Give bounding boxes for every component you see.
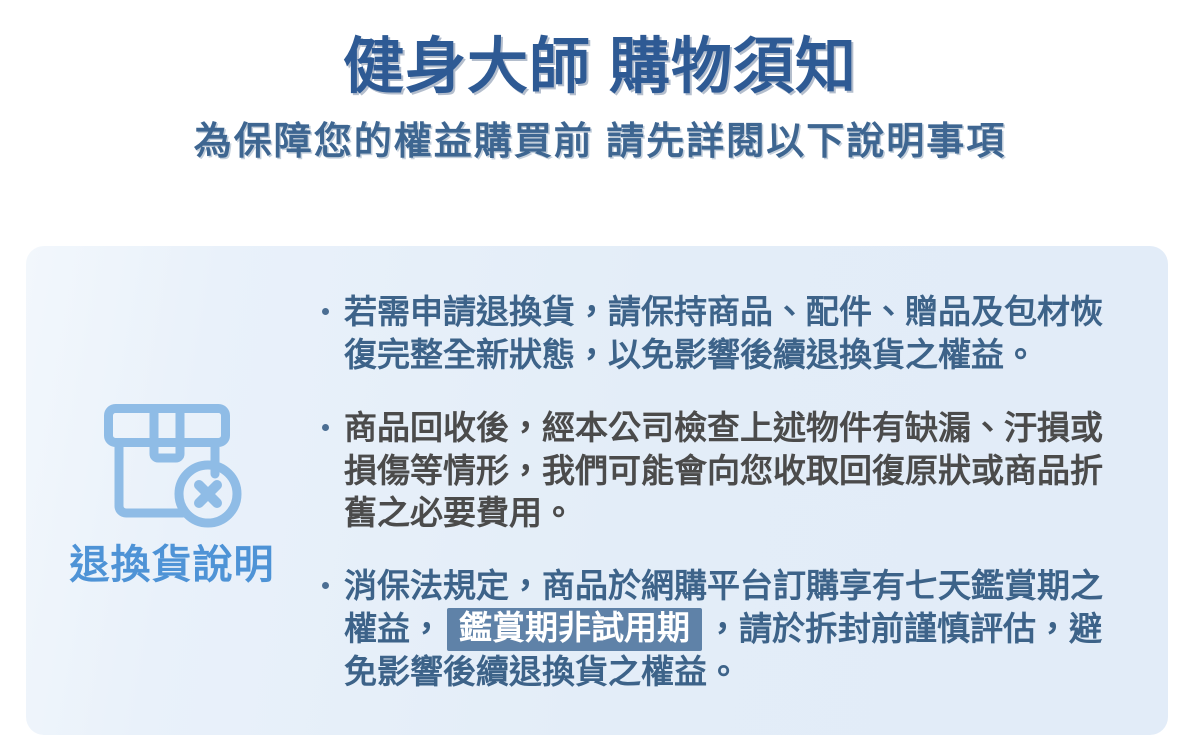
return-policy-panel: 退換貨說明 若需申請退換貨，請保持商品、配件、贈品及包材恢復完整全新狀態，以免影… bbox=[26, 246, 1168, 735]
notice-page: 健身大師 購物須知 為保障您的權益購買前 請先詳閱以下說明事項 bbox=[0, 0, 1200, 756]
panel-icon-column: 退換貨說明 bbox=[26, 396, 318, 586]
panel-content-column: 若需申請退換貨，請保持商品、配件、贈品及包材恢復完整全新狀態，以免影響後續退換貨… bbox=[318, 287, 1168, 694]
page-subtitle: 為保障您的權益購買前 請先詳閱以下說明事項 bbox=[0, 97, 1200, 161]
policy-bullet-list: 若需申請退換貨，請保持商品、配件、贈品及包材恢復完整全新狀態，以免影響後續退換貨… bbox=[318, 291, 1134, 694]
package-return-icon bbox=[101, 402, 243, 530]
panel-icon-label: 退換貨說明 bbox=[70, 544, 275, 586]
page-header: 健身大師 購物須知 為保障您的權益購買前 請先詳閱以下說明事項 bbox=[0, 0, 1200, 161]
highlight-badge: 鑑賞期非試用期 bbox=[447, 608, 702, 651]
list-item: 消保法規定，商品於網購平台訂購享有七天鑑賞期之權益，鑑賞期非試用期，請於拆封前謹… bbox=[318, 565, 1134, 694]
page-title: 健身大師 購物須知 bbox=[0, 36, 1200, 97]
list-item: 若需申請退換貨，請保持商品、配件、贈品及包材恢復完整全新狀態，以免影響後續退換貨… bbox=[318, 291, 1134, 377]
list-item: 商品回收後，經本公司檢查上述物件有缺漏、汙損或損傷等情形，我們可能會向您收取回復… bbox=[318, 407, 1134, 536]
